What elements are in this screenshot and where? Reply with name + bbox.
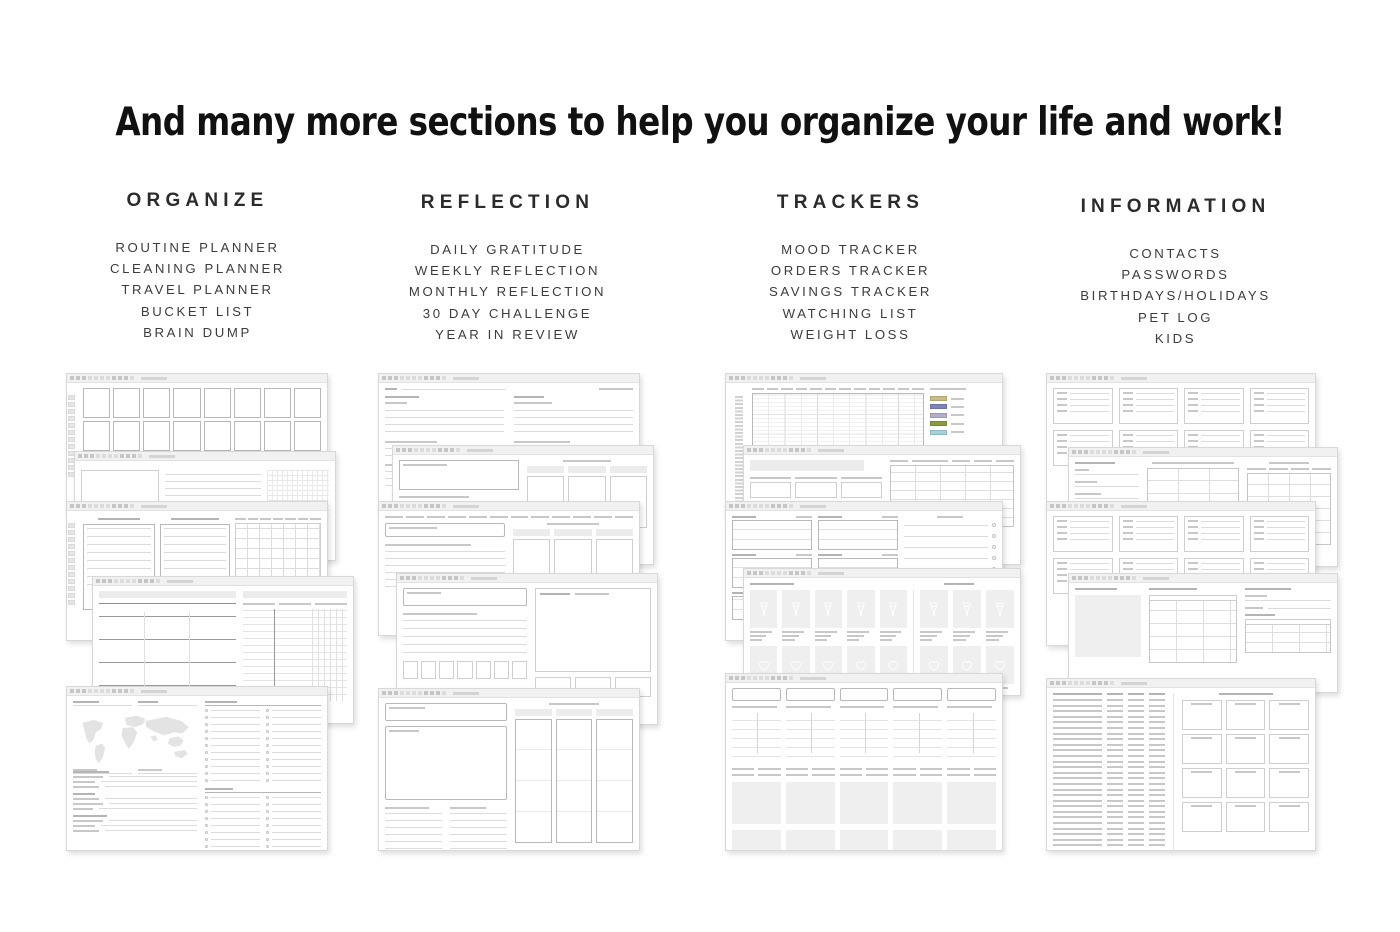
page-tab-strip[interactable] bbox=[726, 374, 1002, 383]
column-title-organize: ORGANIZE bbox=[60, 190, 335, 212]
page-tab-strip[interactable] bbox=[393, 446, 653, 455]
list-item: ROUTINE PLANNER bbox=[60, 237, 335, 258]
weight-column bbox=[947, 688, 996, 851]
contact-card[interactable] bbox=[1250, 388, 1310, 424]
page-tab-strip[interactable] bbox=[1069, 574, 1337, 583]
birthday-month-grid bbox=[1182, 693, 1309, 851]
month-cell[interactable] bbox=[1269, 734, 1309, 764]
challenge-left bbox=[403, 588, 527, 697]
checklist-column[interactable] bbox=[266, 796, 321, 851]
month-cell[interactable] bbox=[1226, 700, 1266, 730]
page-tab-strip[interactable] bbox=[379, 689, 639, 698]
preview-page-travel-planner[interactable] bbox=[66, 686, 328, 851]
month-cell[interactable] bbox=[1182, 802, 1222, 832]
weight-column bbox=[893, 688, 942, 851]
preview-page-weight-loss[interactable] bbox=[725, 673, 1003, 851]
legend-row bbox=[930, 413, 996, 418]
preview-stack-information bbox=[1046, 373, 1331, 851]
column-title-information: INFORMATION bbox=[1038, 196, 1313, 218]
page-tab-strip[interactable] bbox=[75, 452, 335, 461]
list-item: WEIGHT LOSS bbox=[713, 324, 988, 345]
legend-row bbox=[930, 404, 996, 409]
list-item: DAILY GRATITUDE bbox=[370, 239, 645, 260]
legend-swatch bbox=[930, 413, 947, 418]
weight-column bbox=[840, 688, 889, 851]
legend-swatch bbox=[930, 430, 947, 435]
poster-placeholder[interactable] bbox=[847, 590, 874, 628]
preview-stack-reflection bbox=[378, 373, 644, 851]
list-item: TRAVEL PLANNER bbox=[60, 279, 335, 300]
poster-placeholder[interactable] bbox=[986, 590, 1014, 628]
poster-placeholder[interactable] bbox=[815, 590, 842, 628]
year-review-columns bbox=[515, 703, 633, 849]
list-item: WEEKLY REFLECTION bbox=[370, 260, 645, 281]
list-item: SAVINGS TRACKER bbox=[713, 281, 988, 302]
page-tab-strip[interactable] bbox=[93, 577, 353, 586]
year-review-left bbox=[385, 703, 507, 849]
page-tab-strip[interactable] bbox=[379, 502, 639, 511]
kid-appointments-table bbox=[1149, 588, 1237, 663]
password-card[interactable] bbox=[1184, 516, 1244, 552]
password-card[interactable] bbox=[1119, 516, 1179, 552]
page-tab-strip[interactable] bbox=[1069, 448, 1337, 457]
column-title-reflection: REFLECTION bbox=[370, 192, 645, 214]
page-tab-strip[interactable] bbox=[397, 574, 657, 583]
list-item: MOOD TRACKER bbox=[713, 239, 988, 260]
column-trackers: TRACKERS MOOD TRACKER ORDERS TRACKER SAV… bbox=[713, 192, 988, 345]
legend-swatch bbox=[930, 404, 947, 409]
list-item: CONTACTS bbox=[1038, 243, 1313, 264]
column-reflection: REFLECTION DAILY GRATITUDE WEEKLY REFLEC… bbox=[370, 192, 645, 345]
list-item: WATCHING LIST bbox=[713, 303, 988, 324]
month-cell[interactable] bbox=[1226, 734, 1266, 764]
page-tab-strip[interactable] bbox=[379, 374, 639, 383]
column-items-organize: ROUTINE PLANNER CLEANING PLANNER TRAVEL … bbox=[60, 237, 335, 343]
list-item: 30 DAY CHALLENGE bbox=[370, 303, 645, 324]
page-tab-strip[interactable] bbox=[744, 569, 1020, 578]
page-tab-strip[interactable] bbox=[67, 374, 327, 383]
month-cell[interactable] bbox=[1182, 734, 1222, 764]
legend-list bbox=[930, 396, 996, 435]
page-tab-strip[interactable] bbox=[67, 502, 327, 511]
checklist-column[interactable] bbox=[205, 709, 260, 782]
column-items-trackers: MOOD TRACKER ORDERS TRACKER SAVINGS TRAC… bbox=[713, 239, 988, 345]
weight-column bbox=[786, 688, 835, 851]
preview-stack-trackers bbox=[725, 373, 1010, 851]
kid-info-panel bbox=[1075, 588, 1141, 663]
month-cell[interactable] bbox=[1226, 802, 1266, 832]
legend-swatch bbox=[930, 421, 947, 426]
list-item: CLEANING PLANNER bbox=[60, 258, 335, 279]
list-item: ORDERS TRACKER bbox=[713, 260, 988, 281]
page-tab-strip[interactable] bbox=[726, 674, 1002, 683]
contact-card[interactable] bbox=[1053, 388, 1113, 424]
challenge-right bbox=[535, 588, 651, 697]
kid-measurements bbox=[1245, 588, 1331, 663]
world-map bbox=[73, 709, 197, 767]
column-items-information: CONTACTS PASSWORDS BIRTHDAYS/HOLIDAYS PE… bbox=[1038, 243, 1313, 349]
packing-checklists bbox=[205, 701, 321, 851]
page-tab-strip[interactable] bbox=[744, 446, 1020, 455]
preview-stack-organize bbox=[66, 373, 336, 851]
poster-placeholder[interactable] bbox=[880, 590, 907, 628]
page-tab-strip[interactable] bbox=[67, 687, 327, 696]
weight-column bbox=[732, 688, 781, 851]
section-columns: ORGANIZE ROUTINE PLANNER CLEANING PLANNE… bbox=[0, 0, 1400, 360]
column-information: INFORMATION CONTACTS PASSWORDS BIRTHDAYS… bbox=[1038, 196, 1313, 349]
page-tab-strip[interactable] bbox=[726, 502, 1002, 511]
preview-page-kids[interactable] bbox=[1068, 573, 1338, 693]
list-item: BIRTHDAYS/HOLIDAYS bbox=[1038, 285, 1313, 306]
legend-row bbox=[930, 396, 996, 401]
month-cell[interactable] bbox=[1269, 802, 1309, 832]
preview-page-birthdays-holidays[interactable] bbox=[1046, 678, 1316, 851]
preview-page-year-in-review[interactable] bbox=[378, 688, 640, 851]
list-item: PET LOG bbox=[1038, 307, 1313, 328]
page-tab-strip[interactable] bbox=[1047, 502, 1315, 511]
poster-placeholder[interactable] bbox=[750, 590, 777, 628]
page-body bbox=[1047, 688, 1315, 850]
page-tab-strip[interactable] bbox=[1047, 679, 1315, 688]
legend-swatch bbox=[930, 396, 947, 401]
month-cell[interactable] bbox=[1226, 768, 1266, 798]
page-body bbox=[1069, 583, 1337, 692]
column-title-trackers: TRACKERS bbox=[713, 192, 988, 214]
list-item: YEAR IN REVIEW bbox=[370, 324, 645, 345]
column-organize: ORGANIZE ROUTINE PLANNER CLEANING PLANNE… bbox=[60, 190, 335, 343]
month-tabs[interactable] bbox=[385, 516, 633, 518]
list-item: PASSWORDS bbox=[1038, 264, 1313, 285]
month-cell[interactable] bbox=[1269, 700, 1309, 730]
column-items-reflection: DAILY GRATITUDE WEEKLY REFLECTION MONTHL… bbox=[370, 239, 645, 345]
poster-placeholder[interactable] bbox=[920, 590, 948, 628]
side-tab-rail[interactable] bbox=[68, 523, 75, 637]
legend-row bbox=[930, 421, 996, 426]
page-body bbox=[67, 696, 327, 850]
page-tab-strip[interactable] bbox=[1047, 374, 1315, 383]
checklist-column[interactable] bbox=[266, 709, 321, 782]
list-item: MONTHLY REFLECTION bbox=[370, 281, 645, 302]
holidays-table bbox=[1053, 693, 1165, 851]
month-cell[interactable] bbox=[1269, 768, 1309, 798]
list-item: BRAIN DUMP bbox=[60, 322, 335, 343]
password-card[interactable] bbox=[1053, 516, 1113, 552]
month-cell[interactable] bbox=[1182, 700, 1222, 730]
destination-and-map bbox=[73, 701, 197, 851]
month-cell[interactable] bbox=[1182, 768, 1222, 798]
page-body bbox=[379, 698, 639, 850]
page-body bbox=[726, 683, 1002, 850]
list-item: BUCKET LIST bbox=[60, 301, 335, 322]
itinerary-fields bbox=[73, 771, 197, 832]
poster-placeholder[interactable] bbox=[782, 590, 809, 628]
legend-row bbox=[930, 430, 996, 435]
password-card[interactable] bbox=[1250, 516, 1310, 552]
list-item: KIDS bbox=[1038, 328, 1313, 349]
checklist-column[interactable] bbox=[205, 796, 260, 851]
contact-card[interactable] bbox=[1119, 388, 1179, 424]
poster-placeholder[interactable] bbox=[953, 590, 981, 628]
contact-card[interactable] bbox=[1184, 388, 1244, 424]
